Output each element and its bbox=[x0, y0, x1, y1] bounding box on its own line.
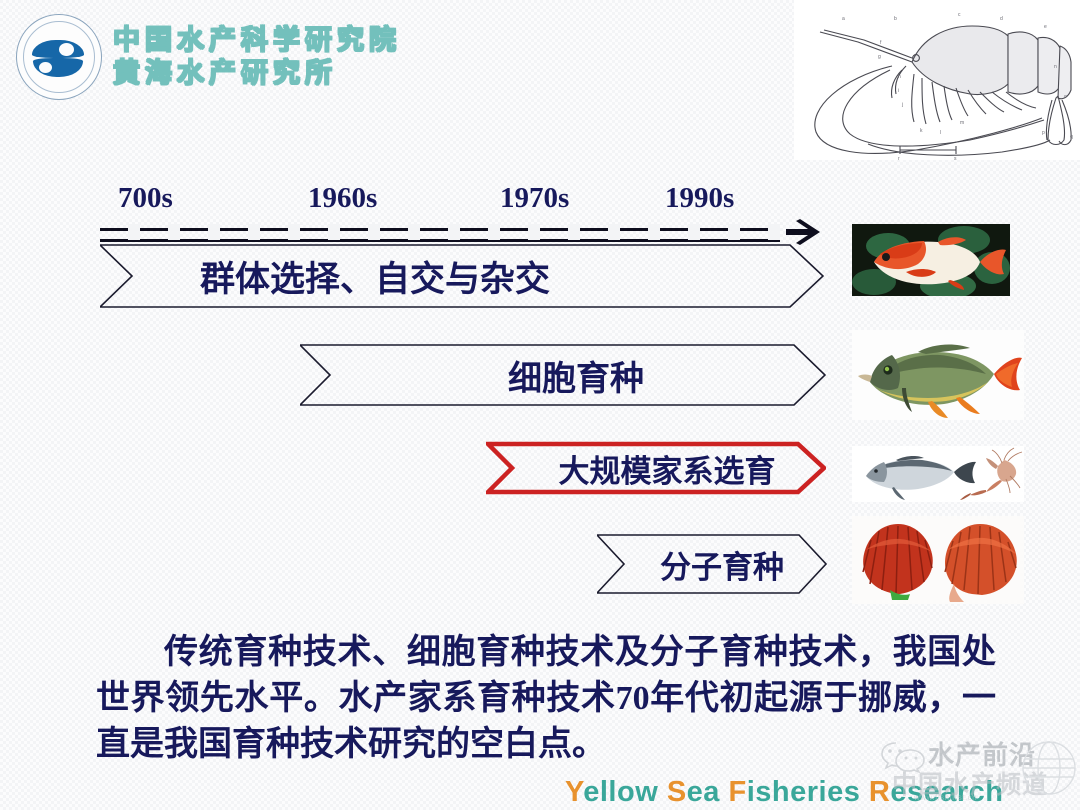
salmon-and-shrimp-photo bbox=[852, 446, 1024, 502]
svg-text:j: j bbox=[901, 102, 903, 108]
chevron-label: 大规模家系选育 bbox=[486, 441, 826, 495]
timeline-year-700s: 700s bbox=[118, 182, 173, 215]
common-carp-photo bbox=[852, 330, 1024, 420]
shrimp-line-drawing: a b c d e f g h i j k l m n o p q r s bbox=[794, 0, 1080, 160]
institute-name-line-2: 黄海水产研究所 bbox=[113, 57, 401, 90]
channel-watermark: 水产前沿 中国水产频道 www.fishfirst.cn bbox=[880, 735, 1080, 810]
wordmark-part: ea bbox=[687, 776, 729, 808]
timeline-year-labels: 700s 1960s 1970s 1990s bbox=[100, 182, 820, 222]
seal-wave-notch-lower bbox=[39, 62, 52, 73]
svg-text:k: k bbox=[920, 128, 923, 134]
svg-text:a: a bbox=[842, 16, 845, 22]
chevron-label: 分子育种 bbox=[597, 534, 827, 594]
watermark-url: www.fishfirst.cn bbox=[914, 793, 977, 802]
scallops-photo bbox=[852, 516, 1024, 604]
goldfish-photo bbox=[852, 224, 1010, 296]
svg-text:c: c bbox=[958, 12, 961, 18]
svg-text:d: d bbox=[1000, 16, 1003, 22]
chevron-band-molecular-breeding[interactable]: 分子育种 bbox=[597, 534, 827, 594]
institute-name-block: 中国水产科学研究院 黄海水产研究所 bbox=[113, 24, 401, 90]
svg-text:g: g bbox=[878, 54, 881, 60]
timeline-year-1970s: 1970s bbox=[500, 182, 569, 215]
svg-text:h: h bbox=[898, 74, 901, 80]
wordmark-part: F bbox=[729, 776, 747, 808]
svg-text:q: q bbox=[1070, 134, 1073, 140]
svg-text:e: e bbox=[1044, 24, 1047, 30]
wordmark-part: isheries bbox=[747, 776, 869, 808]
wordmark-part: ellow bbox=[583, 776, 667, 808]
svg-text:n: n bbox=[1054, 64, 1057, 70]
globe-icon bbox=[1020, 737, 1078, 799]
svg-text:m: m bbox=[960, 120, 964, 126]
svg-text:b: b bbox=[894, 16, 897, 22]
seal-wave-notch-upper bbox=[59, 43, 74, 56]
chevron-band-population-selection[interactable]: 群体选择、自交与杂交 bbox=[100, 244, 824, 308]
svg-text:o: o bbox=[1064, 94, 1067, 100]
chevron-label: 群体选择、自交与杂交 bbox=[100, 244, 824, 308]
institute-seal-icon bbox=[14, 12, 106, 104]
svg-text:p: p bbox=[1042, 130, 1045, 136]
wordmark-part: S bbox=[667, 776, 687, 808]
svg-text:l: l bbox=[940, 130, 941, 136]
chevron-band-family-selective-breeding[interactable]: 大规模家系选育 bbox=[486, 441, 826, 495]
svg-text:s: s bbox=[954, 156, 957, 160]
timeline-year-1960s: 1960s bbox=[308, 182, 377, 215]
chevron-band-cell-breeding[interactable]: 细胞育种 bbox=[300, 344, 826, 406]
institute-name-line-1: 中国水产科学研究院 bbox=[113, 24, 401, 57]
chevron-label: 细胞育种 bbox=[300, 344, 826, 406]
timeline-axis bbox=[100, 224, 824, 246]
timeline-year-1990s: 1990s bbox=[665, 182, 734, 215]
wordmark-part: Y bbox=[565, 776, 583, 808]
svg-text:f: f bbox=[880, 40, 882, 46]
timeline-dash-gaps bbox=[100, 224, 780, 240]
slide-canvas: 中国水产科学研究院 黄海水产研究所 bbox=[0, 0, 1080, 810]
body-paragraph: 传统育种技术、细胞育种技术及分子育种技术，我国处世界领先水平。水产家系育种技术7… bbox=[96, 630, 996, 768]
svg-text:r: r bbox=[898, 156, 900, 160]
svg-text:i: i bbox=[898, 88, 899, 94]
